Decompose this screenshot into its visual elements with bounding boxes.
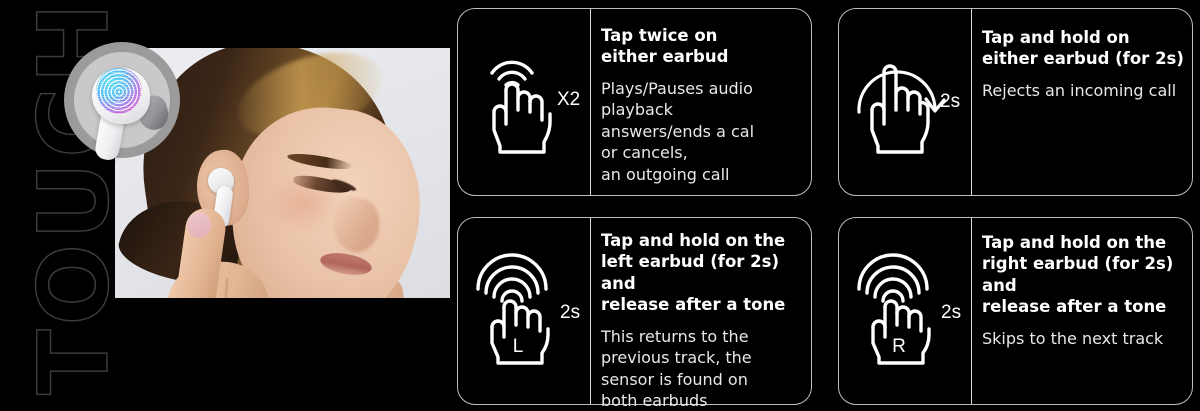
duration-label-x2: X2 xyxy=(557,89,580,111)
duration-label-2s: 2s xyxy=(941,302,961,324)
card-icon-column: X2 xyxy=(458,9,590,195)
card-description: This returns to the previous track, the … xyxy=(601,326,803,411)
card-description: Skips to the next track xyxy=(982,328,1184,349)
card-title: Tap and hold on either earbud (for 2s) xyxy=(982,27,1184,70)
card-tap-hold-left-earbud[interactable]: L 2s Tap and hold on the left earbud (fo… xyxy=(457,217,812,405)
hand-tap-icon xyxy=(470,46,562,158)
card-icon-column: 2s xyxy=(839,9,971,195)
card-title: Tap and hold on the right earbud (for 2s… xyxy=(982,232,1184,318)
hand-label-right: R xyxy=(892,336,906,357)
card-tap-twice[interactable]: X2 Tap twice on either earbud Plays/Paus… xyxy=(457,8,812,196)
duration-label-2s: 2s xyxy=(560,302,580,324)
touch-controls-infographic: TOUCH xyxy=(0,0,1200,411)
hand-tap-right-icon: R xyxy=(851,253,947,369)
card-text-column: Tap and hold on the right earbud (for 2s… xyxy=(971,218,1192,404)
card-icon-column: R 2s xyxy=(839,218,971,404)
hand-label-left: L xyxy=(513,336,524,357)
card-text-column: Tap and hold on the left earbud (for 2s)… xyxy=(590,218,811,404)
hand-tap-left-icon: L xyxy=(470,253,566,369)
card-title: Tap twice on either earbud xyxy=(601,25,803,68)
fingerprint-icon xyxy=(96,68,142,114)
card-description: Plays/Pauses audio playback answers/ends… xyxy=(601,78,803,185)
card-icon-column: L 2s xyxy=(458,218,590,404)
duration-label-2s: 2s xyxy=(940,91,960,113)
card-description: Rejects an incoming call xyxy=(982,80,1184,101)
card-title: Tap and hold on the left earbud (for 2s)… xyxy=(601,230,803,316)
earbud-fingerprint-badge xyxy=(56,34,188,166)
card-tap-hold-either-earbud[interactable]: 2s Tap and hold on either earbud (for 2s… xyxy=(838,8,1193,196)
card-text-column: Tap and hold on either earbud (for 2s) R… xyxy=(971,9,1192,195)
hand-hold-rotate-icon xyxy=(851,46,951,158)
card-tap-hold-right-earbud[interactable]: R 2s Tap and hold on the right earbud (f… xyxy=(838,217,1193,405)
card-text-column: Tap twice on either earbud Plays/Pauses … xyxy=(590,9,811,195)
